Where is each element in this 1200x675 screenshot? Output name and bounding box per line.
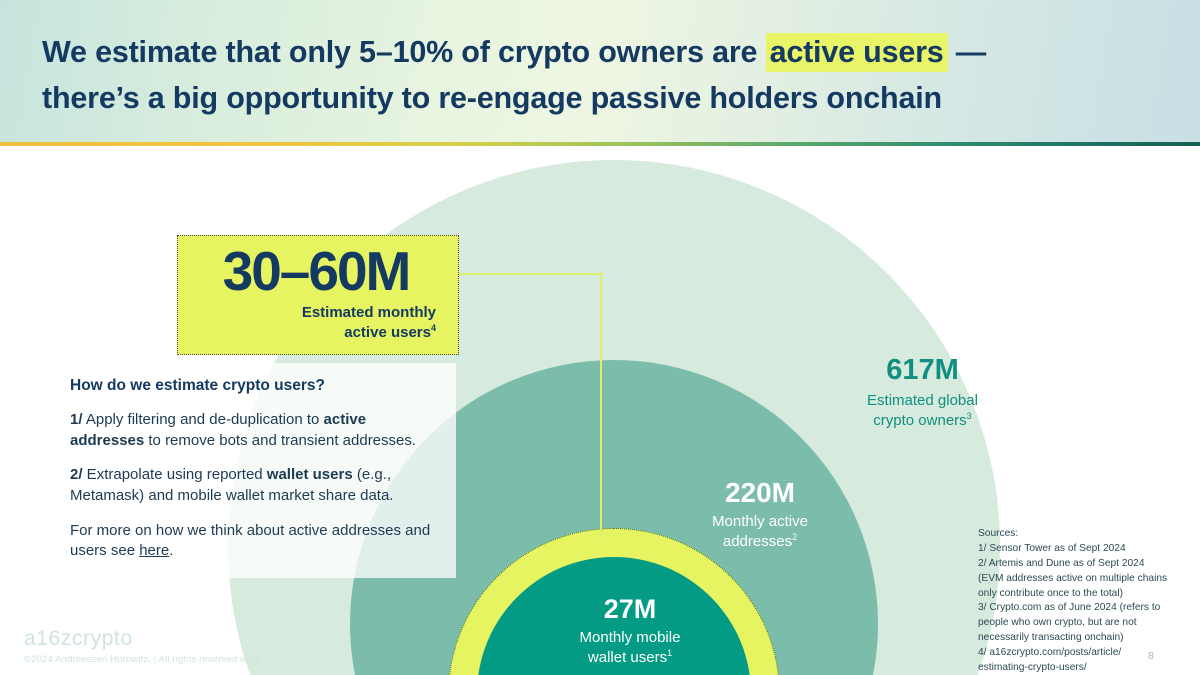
sources-line: (EVM addresses active on multiple chains: [978, 572, 1178, 587]
page-number: 8: [1148, 650, 1154, 662]
callout-value: 30–60M: [196, 242, 436, 301]
panel-item-3-text-a: For more on how we think about active ad…: [70, 522, 430, 560]
panel-item-2-text-a: Extrapolate using reported: [83, 466, 267, 483]
panel-item-1: 1/ Apply filtering and de-duplication to…: [70, 410, 436, 451]
title-text-leading: We estimate that only 5–10% of crypto ow…: [42, 35, 766, 69]
label-27-caption-line-1: Monthly mobile: [580, 629, 681, 646]
sources-line: 3/ Crypto.com as of June 2024 (refers to: [978, 601, 1178, 616]
title-line-2: there’s a big opportunity to re-engage p…: [42, 81, 942, 115]
panel-item-1-number: 1/: [70, 411, 83, 428]
connector-line-horizontal: [458, 273, 603, 275]
methodology-panel: How do we estimate crypto users? 1/ Appl…: [50, 363, 456, 578]
sources-line: 2/ Artemis and Dune as of Sept 2024: [978, 557, 1178, 572]
panel-item-1-text-a: Apply filtering and de-duplication to: [83, 411, 324, 428]
label-27-caption-line-2: wallet users: [588, 649, 667, 666]
label-220-footnote-marker: 2: [792, 532, 797, 542]
label-27-caption: Monthly mobile wallet users1: [535, 628, 725, 666]
label-global-crypto-owners: 617M Estimated global crypto owners3: [815, 355, 1030, 430]
label-617-caption-line-1: Estimated global: [867, 392, 978, 409]
callout-caption: Estimated monthly active users4: [196, 303, 436, 341]
label-220-caption: Monthly active addresses2: [655, 512, 865, 550]
label-617-caption-line-2: crypto owners: [873, 412, 966, 429]
panel-heading: How do we estimate crypto users?: [70, 377, 436, 395]
sources-line: estimating-crypto-users/: [978, 661, 1178, 675]
label-220-caption-line-2: addresses: [723, 533, 792, 550]
slide-header: We estimate that only 5–10% of crypto ow…: [0, 0, 1200, 142]
sources-line: necessarily transacting onchain): [978, 631, 1178, 646]
panel-item-2-number: 2/: [70, 466, 83, 483]
label-617-value: 617M: [815, 355, 1030, 385]
label-monthly-active-addresses: 220M Monthly active addresses2: [655, 478, 865, 551]
label-27-value: 27M: [535, 595, 725, 623]
label-27-footnote-marker: 1: [667, 648, 672, 658]
callout-caption-line-1: Estimated monthly: [302, 304, 436, 321]
callout-caption-line-2: active users: [344, 324, 431, 341]
sources-heading: Sources:: [978, 527, 1178, 542]
label-617-caption: Estimated global crypto owners3: [815, 391, 1030, 429]
connector-line-vertical: [600, 273, 602, 539]
callout-footnote-marker: 4: [431, 323, 436, 333]
sources-line: people who own crypto, but are not: [978, 616, 1178, 631]
label-617-footnote-marker: 3: [967, 411, 972, 421]
title-text-dash: —: [948, 35, 987, 69]
callout-estimated-monthly-active-users: 30–60M Estimated monthly active users4: [177, 235, 459, 355]
label-220-value: 220M: [655, 478, 865, 507]
sources-line: only contribute once to the total): [978, 587, 1178, 602]
copyright-notice: ©2024 Andreessen Horowitz. | All rights …: [24, 654, 258, 665]
panel-item-3-text-b: .: [169, 542, 173, 559]
page-title: We estimate that only 5–10% of crypto ow…: [42, 30, 1152, 122]
label-monthly-mobile-wallet-users: 27M Monthly mobile wallet users1: [535, 595, 725, 667]
sources-line: 1/ Sensor Tower as of Sept 2024: [978, 542, 1178, 557]
panel-item-1-text-b: to remove bots and transient addresses.: [144, 432, 416, 449]
panel-item-3: For more on how we think about active ad…: [70, 521, 436, 562]
panel-item-2: 2/ Extrapolate using reported wallet use…: [70, 465, 436, 506]
header-divider-rule: [0, 142, 1200, 146]
label-220-caption-line-1: Monthly active: [712, 513, 808, 530]
title-highlight: active users: [766, 33, 948, 72]
a16zcrypto-logo: a16zcrypto: [24, 627, 133, 651]
slide-root: We estimate that only 5–10% of crypto ow…: [0, 0, 1200, 675]
here-link[interactable]: here: [139, 542, 169, 559]
panel-item-2-emphasis: wallet users: [267, 466, 353, 483]
